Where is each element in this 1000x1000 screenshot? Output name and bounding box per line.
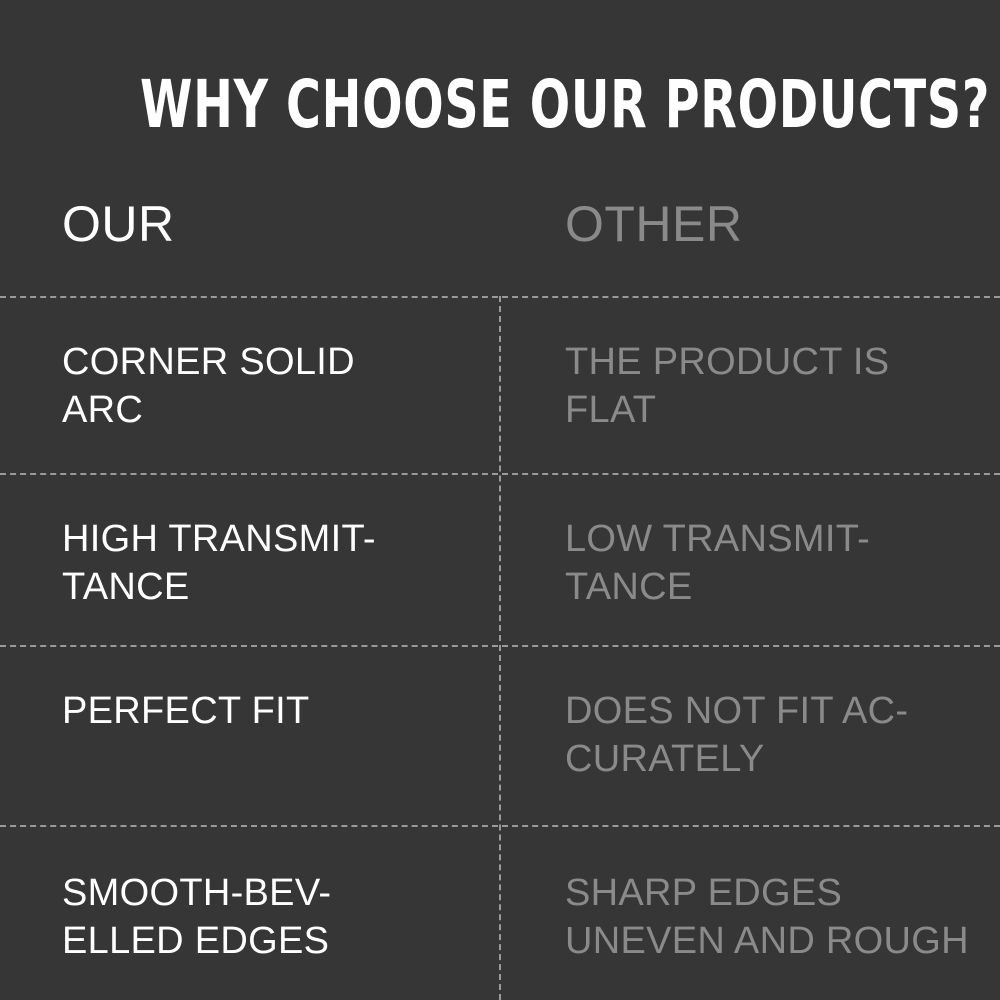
column-header-other: OTHER [565,196,743,252]
table-row: PERFECT FIT DOES NOT FIT AC- CURATELY [0,645,1000,825]
comparison-poster: WHY CHOOSE OUR PRODUCTS? OUR OTHER CORNE… [0,0,1000,1000]
cell-other-feature: DOES NOT FIT AC- CURATELY [565,645,985,783]
cell-our-feature: SMOOTH-BEV- ELLED EDGES [62,825,482,965]
cell-our-feature: HIGH TRANSMIT- TANCE [62,473,482,611]
cell-other-feature: SHARP EDGES UNEVEN AND ROUGH [565,825,995,965]
column-header-our: OUR [62,196,175,252]
cell-our-feature: CORNER SOLID ARC [62,296,482,434]
cell-other-feature: THE PRODUCT IS FLAT [565,296,985,434]
table-header-row: OUR OTHER [0,196,1000,268]
cell-our-feature: PERFECT FIT [62,645,482,735]
page-title: WHY CHOOSE OUR PRODUCTS? [140,72,860,138]
table-row: CORNER SOLID ARC THE PRODUCT IS FLAT [0,296,1000,473]
table-row: HIGH TRANSMIT- TANCE LOW TRANSMIT- TANCE [0,473,1000,645]
cell-other-feature: LOW TRANSMIT- TANCE [565,473,985,611]
table-row: SMOOTH-BEV- ELLED EDGES SHARP EDGES UNEV… [0,825,1000,1000]
